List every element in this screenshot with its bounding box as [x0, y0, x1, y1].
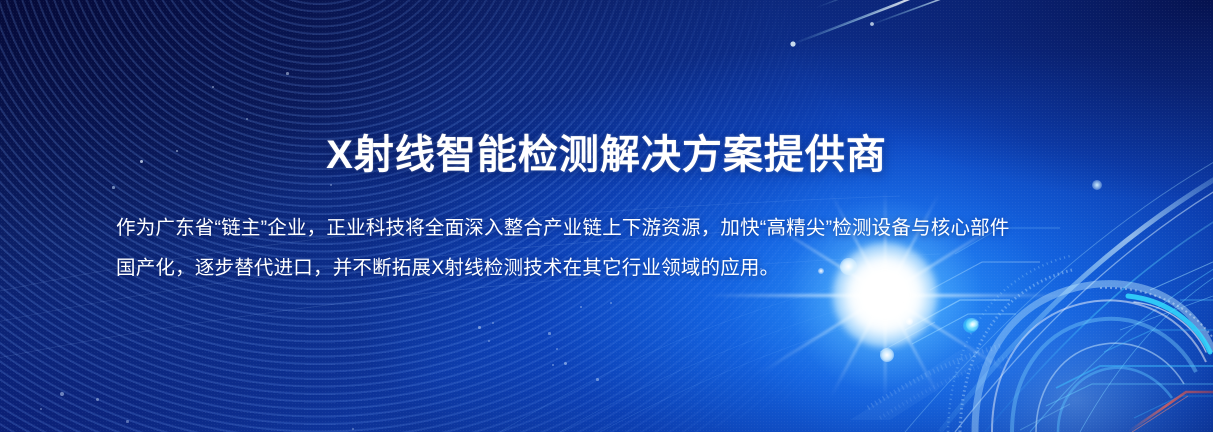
hero-banner: X射线智能检测解决方案提供商 作为广东省“链主”企业，正业科技将全面深入整合产业…: [0, 0, 1213, 432]
banner-description-line-2: 国产化，逐步替代进口，并不断拓展X射线检测技术在其它行业领域的应用。: [116, 248, 1101, 288]
banner-description-line-1: 作为广东省“链主”企业，正业科技将全面深入整合产业链上下游资源，加快“高精尖”检…: [116, 208, 1101, 248]
banner-title: X射线智能检测解决方案提供商: [0, 131, 1213, 179]
banner-content: X射线智能检测解决方案提供商 作为广东省“链主”企业，正业科技将全面深入整合产业…: [0, 0, 1213, 432]
banner-description: 作为广东省“链主”企业，正业科技将全面深入整合产业链上下游资源，加快“高精尖”检…: [116, 208, 1101, 288]
